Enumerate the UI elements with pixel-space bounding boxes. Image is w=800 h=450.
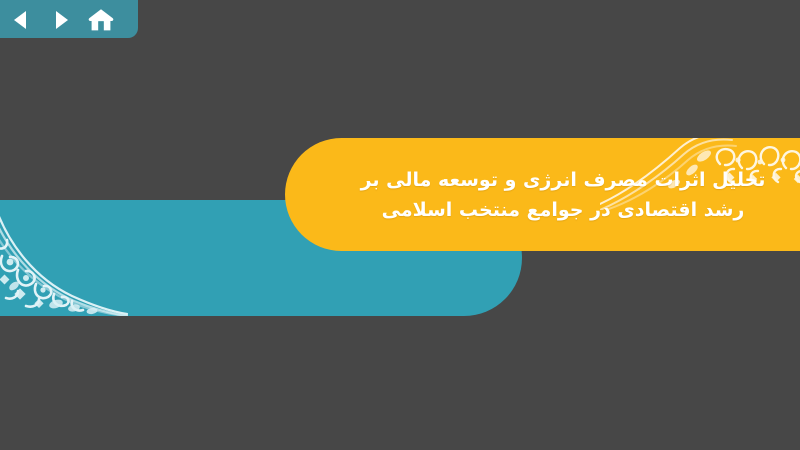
previous-button[interactable] xyxy=(8,7,34,33)
next-button[interactable] xyxy=(48,7,74,33)
presentation-slide: تحلیل اثرات مصرف انرژی و توسعه مالی بر ر… xyxy=(0,0,800,450)
home-button[interactable] xyxy=(88,7,114,33)
triangle-right-icon xyxy=(50,9,72,31)
home-icon xyxy=(88,8,114,32)
triangle-left-icon xyxy=(10,9,32,31)
arabesque-ornament-icon xyxy=(0,204,128,316)
orange-title-panel: تحلیل اثرات مصرف انرژی و توسعه مالی بر ر… xyxy=(285,138,800,251)
page-title: تحلیل اثرات مصرف انرژی و توسعه مالی بر ر… xyxy=(354,164,772,224)
navigation-bar xyxy=(0,0,138,38)
